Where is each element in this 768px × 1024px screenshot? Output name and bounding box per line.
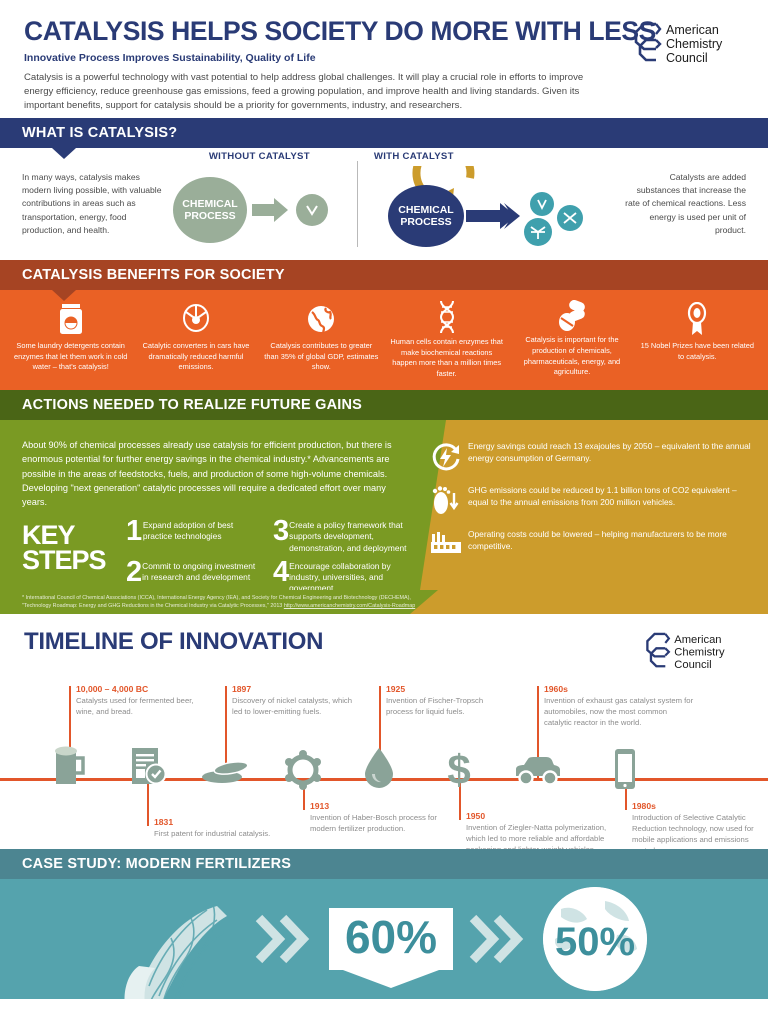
footnote-line-1: * International Council of Chemical Asso… bbox=[22, 594, 415, 602]
timeline-desc: Invention of Haber-Bosch process for mod… bbox=[310, 813, 438, 835]
what-is-right-text: Catalysts are added substances that incr… bbox=[624, 171, 754, 238]
timeline-year: 10,000 – 4,000 BC bbox=[76, 684, 206, 694]
timeline-year: 1960s bbox=[544, 684, 694, 694]
timeline-year: 1950 bbox=[466, 811, 621, 821]
timeline-event-4: 1913 Invention of Haber-Bosch process fo… bbox=[310, 801, 438, 835]
patent-document-icon bbox=[128, 746, 168, 793]
gain-text: Energy savings could reach 13 exajoules … bbox=[468, 440, 754, 464]
case-study-body: 60% 50% bbox=[0, 879, 768, 999]
section-notch bbox=[52, 290, 76, 301]
timeline-event-1: 10,000 – 4,000 BC Catalysts used for fer… bbox=[76, 684, 206, 718]
actions-paragraph: About 90% of chemical processes already … bbox=[22, 438, 410, 509]
benefit-item: Catalytic converters in cars have dramat… bbox=[133, 300, 258, 378]
beer-mug-icon bbox=[50, 746, 88, 793]
timeline-event-7: 1960s Invention of exhaust gas catalyst … bbox=[544, 684, 694, 729]
carbon-footprint-icon bbox=[424, 484, 468, 517]
gain-item: Energy savings could reach 13 exajoules … bbox=[424, 440, 754, 473]
page-header: CATALYSIS HELPS SOCIETY DO MORE WITH LES… bbox=[0, 0, 768, 118]
step-text: Create a policy framework that supports … bbox=[289, 519, 410, 554]
acc-logo-line1: American bbox=[666, 23, 719, 37]
process-label-3: CHEMICAL bbox=[398, 204, 454, 216]
stat-50-percent-globe: 50% bbox=[543, 887, 647, 991]
with-catalyst-label: WITH CATALYST bbox=[374, 151, 624, 162]
without-catalyst-diagram: WITHOUT CATALYST CHEMICAL PROCESS bbox=[162, 151, 357, 257]
section-notch bbox=[52, 148, 76, 159]
fuel-drop-icon bbox=[362, 746, 396, 793]
key-step-1: 1 Expand adoption of best practice techn… bbox=[126, 519, 263, 554]
timeline-event-2: 1831 First patent for industrial catalys… bbox=[154, 817, 274, 840]
process-label-1: CHEMICAL bbox=[182, 198, 238, 210]
timeline-canvas: 10,000 – 4,000 BC Catalysts used for fer… bbox=[0, 674, 768, 849]
corn-cob-icon bbox=[121, 900, 239, 1000]
benefit-item: Human cells contain enzymes that make bi… bbox=[384, 300, 509, 378]
timeline-year: 1913 bbox=[310, 801, 438, 811]
acc-logo-timeline: American Chemistry Council bbox=[642, 628, 746, 674]
timeline-event-3: 1897 Discovery of nickel catalysts, whic… bbox=[232, 684, 360, 718]
nickel-coins-icon bbox=[200, 759, 254, 790]
detergent-bottle-icon bbox=[58, 300, 84, 338]
what-is-catalysis-header: WHAT IS CATALYSIS? bbox=[0, 118, 768, 148]
what-is-left-text: In many ways, catalysis makes modern liv… bbox=[14, 171, 162, 238]
footnote-gold-bg bbox=[410, 590, 768, 614]
chevron-arrows-1 bbox=[253, 910, 315, 968]
car-icon bbox=[512, 754, 564, 791]
benefits-heading: CATALYSIS BENEFITS FOR SOCIETY bbox=[22, 267, 285, 283]
benefit-text: 15 Nobel Prizes have been related to cat… bbox=[639, 341, 756, 362]
timeline-desc: Catalysts used for fermented beer, wine,… bbox=[76, 696, 206, 718]
step-number: 2 bbox=[126, 560, 142, 585]
acc-logo-line3: Council bbox=[674, 659, 711, 671]
catalyst-arc-label: CATALYST bbox=[475, 176, 499, 216]
process-label-2: PROCESS bbox=[184, 210, 235, 222]
timeline-desc: First patent for industrial catalysis. bbox=[154, 829, 274, 840]
benefit-item: 15 Nobel Prizes have been related to cat… bbox=[635, 300, 760, 378]
benefits-body: Some laundry detergents contain enzymes … bbox=[0, 290, 768, 390]
benefit-text: Catalysis is important for the productio… bbox=[513, 335, 630, 378]
step-number: 1 bbox=[126, 519, 143, 544]
gain-text: GHG emissions could be reduced by 1.1 bi… bbox=[468, 484, 754, 508]
timeline-desc: Invention of exhaust gas catalyst system… bbox=[544, 696, 694, 729]
stat-60-percent: 60% bbox=[329, 908, 453, 970]
timeline-year: 1925 bbox=[386, 684, 506, 694]
what-is-catalysis-body: In many ways, catalysis makes modern liv… bbox=[0, 148, 768, 260]
timeline-year: 1831 bbox=[154, 817, 274, 827]
case-study-heading: CASE STUDY: MODERN FERTILIZERS bbox=[22, 856, 291, 872]
acc-logo-line1: American bbox=[674, 634, 721, 646]
step-text: Expand adoption of best practice technol… bbox=[143, 519, 263, 542]
gain-text: Operating costs could be lowered – helpi… bbox=[468, 528, 754, 552]
timeline-year: 1897 bbox=[232, 684, 360, 694]
timeline-year: 1980s bbox=[632, 801, 760, 811]
svg-text:$: $ bbox=[447, 748, 470, 790]
intro-paragraph: Catalysis is a powerful technology with … bbox=[24, 71, 614, 114]
key-step-3: 3 Create a policy framework that support… bbox=[273, 519, 410, 554]
factory-icon bbox=[424, 528, 468, 555]
case-study-header: CASE STUDY: MODERN FERTILIZERS bbox=[0, 849, 768, 879]
mobile-phone-icon bbox=[612, 748, 638, 795]
key-steps-label: KEY STEPS bbox=[22, 519, 126, 590]
step-number: 4 bbox=[273, 560, 289, 585]
acc-logo: American Chemistry Council bbox=[630, 18, 746, 68]
energy-savings-icon bbox=[424, 440, 468, 473]
actions-footnote: * International Council of Chemical Asso… bbox=[0, 590, 768, 614]
medal-icon bbox=[687, 300, 707, 338]
stat-50-label: 50% bbox=[555, 920, 635, 964]
dollar-sign-icon: $ bbox=[440, 748, 478, 795]
benefits-header: CATALYSIS BENEFITS FOR SOCIETY bbox=[0, 260, 768, 290]
acc-logo-line2: Chemistry bbox=[674, 646, 725, 658]
key-step-4: 4 Encourage collaboration by industry, u… bbox=[273, 560, 410, 590]
what-is-catalysis-heading: WHAT IS CATALYSIS? bbox=[22, 125, 177, 141]
acc-logo-line2: Chemistry bbox=[666, 37, 723, 51]
dna-icon bbox=[436, 300, 458, 334]
benefit-text: Catalytic converters in cars have dramat… bbox=[137, 341, 254, 373]
actions-left-column: About 90% of chemical processes already … bbox=[0, 420, 420, 590]
timeline-section: TIMELINE OF INNOVATION American Chemistr… bbox=[0, 614, 768, 849]
pills-icon bbox=[557, 300, 587, 332]
footnote-link[interactable]: http://www.americanchemistry.com/Catalys… bbox=[284, 603, 415, 609]
benefit-item: Some laundry detergents contain enzymes … bbox=[8, 300, 133, 378]
timeline-desc: Invention of Fischer-Tropsch process for… bbox=[386, 696, 506, 718]
with-catalyst-graphic: CATALYST CHEMICAL PROCESS bbox=[374, 166, 624, 252]
actions-header: ACTIONS NEEDED TO REALIZE FUTURE GAINS bbox=[0, 390, 768, 420]
key-steps-word-2: STEPS bbox=[22, 548, 126, 573]
footnote-line-2: "Technology Roadmap: Energy and GHG Redu… bbox=[22, 603, 284, 609]
gains-list: Energy savings could reach 13 exajoules … bbox=[420, 420, 768, 590]
benefit-text: Catalysis contributes to greater than 35… bbox=[263, 341, 380, 373]
gain-item: GHG emissions could be reduced by 1.1 bi… bbox=[424, 484, 754, 517]
key-steps-block: KEY STEPS 1 Expand adoption of best prac… bbox=[22, 519, 410, 590]
timeline-event-5: 1925 Invention of Fischer-Tropsch proces… bbox=[386, 684, 506, 718]
molecule-ring-icon bbox=[282, 750, 324, 795]
gain-item: Operating costs could be lowered – helpi… bbox=[424, 528, 754, 555]
globe-icon bbox=[306, 300, 336, 338]
actions-body: About 90% of chemical processes already … bbox=[0, 420, 768, 590]
benefit-item: Catalysis contributes to greater than 35… bbox=[259, 300, 384, 378]
step-text: Encourage collaboration by industry, uni… bbox=[289, 560, 410, 590]
actions-heading: ACTIONS NEEDED TO REALIZE FUTURE GAINS bbox=[22, 397, 362, 413]
with-catalyst-diagram: WITH CATALYST CATALYST CHEMICAL PROCESS bbox=[358, 151, 624, 257]
timeline-desc: Discovery of nickel catalysts, which led… bbox=[232, 696, 360, 718]
acc-logo-line3: Council bbox=[666, 51, 708, 65]
without-catalyst-label: WITHOUT CATALYST bbox=[162, 151, 357, 162]
benefit-text: Some laundry detergents contain enzymes … bbox=[12, 341, 129, 373]
benefit-item: Catalysis is important for the productio… bbox=[509, 300, 634, 378]
catalytic-converter-icon bbox=[181, 300, 211, 338]
key-step-2: 2 Commit to ongoing investment in resear… bbox=[126, 560, 263, 590]
without-catalyst-graphic: CHEMICAL PROCESS bbox=[162, 166, 357, 248]
process-label-4: PROCESS bbox=[400, 216, 451, 228]
benefit-text: Human cells contain enzymes that make bi… bbox=[388, 337, 505, 380]
step-number: 3 bbox=[273, 519, 289, 544]
chevron-arrows-2 bbox=[467, 910, 529, 968]
step-text: Commit to ongoing investment in research… bbox=[142, 560, 263, 583]
